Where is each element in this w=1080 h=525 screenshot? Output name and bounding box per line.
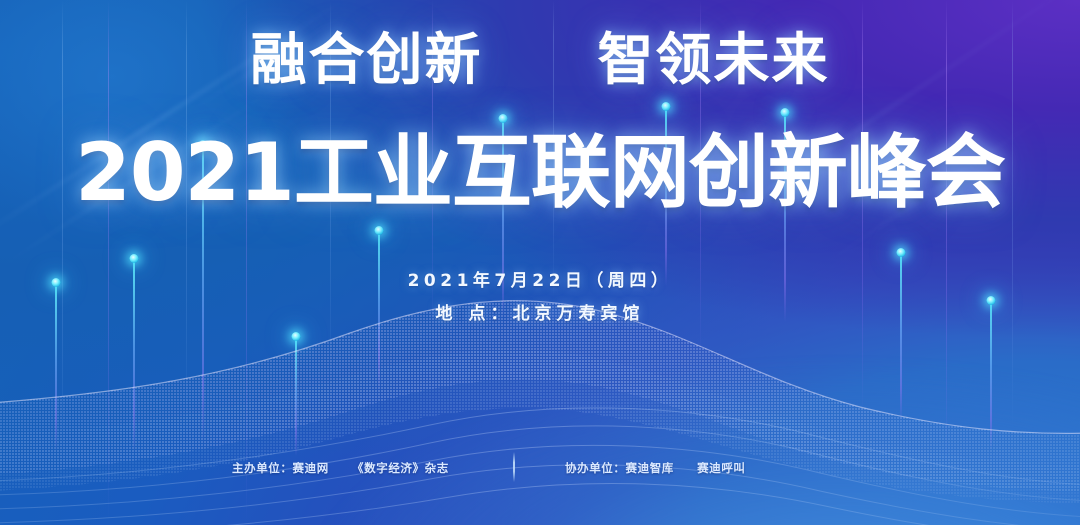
poster-footer: 主办单位：赛迪网 《数字经济》杂志 协办单位：赛迪智库 赛迪呼叫 xyxy=(0,458,1080,478)
pin-dot-icon xyxy=(897,248,906,257)
headline-left: 融合创新 xyxy=(251,27,483,93)
headline-right: 智领未来 xyxy=(598,27,830,93)
pin-dot-icon xyxy=(499,114,508,123)
pin-dot-icon xyxy=(375,226,384,235)
event-location: 地 点：北京万寿宾馆 xyxy=(0,299,1080,324)
pin-dot-icon xyxy=(781,108,790,117)
conference-poster: 融合创新 智领未来 2021工业互联网创新峰会 2021年7月22日（周四） 地… xyxy=(0,0,1080,525)
pin-dot-icon xyxy=(130,254,139,263)
poster-main-title: 2021工业互联网创新峰会 xyxy=(0,133,1080,213)
organizer-extra: 《数字经济》杂志 xyxy=(352,461,449,475)
pin-dot-icon xyxy=(662,102,671,111)
footer-divider xyxy=(513,452,515,482)
coorganizer-block: 协办单位：赛迪智库 赛迪呼叫 xyxy=(565,458,746,478)
coorganizer-extra: 赛迪呼叫 xyxy=(697,461,745,475)
organizer-block: 主办单位：赛迪网 《数字经济》杂志 xyxy=(232,458,449,478)
organizer-label: 主办单位：赛迪网 xyxy=(232,461,329,475)
poster-headline: 融合创新 智领未来 xyxy=(0,32,1080,88)
coorganizer-label: 协办单位：赛迪智库 xyxy=(565,461,674,475)
event-date: 2021年7月22日（周四） xyxy=(0,266,1080,291)
